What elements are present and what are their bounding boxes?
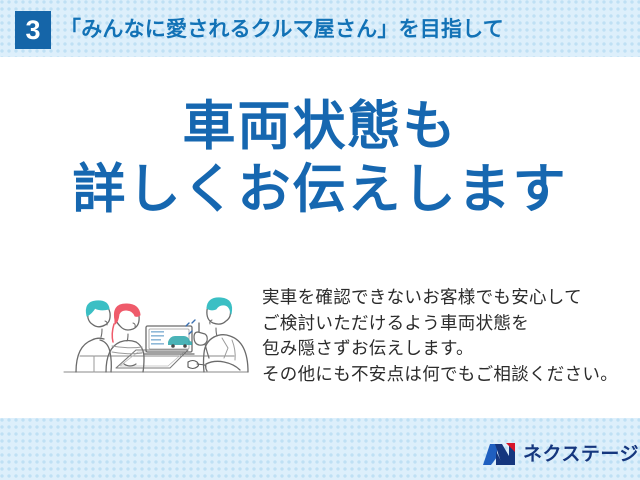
- header-title: 「みんなに愛されるクルマ屋さん」を目指して: [60, 13, 504, 47]
- body-copy-line-2: ご検討いただけるよう車両状態を: [262, 311, 622, 337]
- headline: 車両状態も 詳しくお伝えします: [0, 96, 640, 221]
- body-copy-line-4: その他にも不安点は何でもご相談ください。: [262, 362, 622, 388]
- body-copy-line-3: 包み隠さずお伝えします。: [262, 336, 622, 362]
- brand-name: ネクステージ: [523, 442, 639, 467]
- body-copy: 実車を確認できないお客様でも安心して ご検討いただけるよう車両状態を 包み隠さず…: [262, 285, 622, 387]
- headline-line-1: 車両状態も: [0, 96, 640, 159]
- promo-banner: 3 「みんなに愛されるクルマ屋さん」を目指して 車両状態も 詳しくお伝えします: [0, 0, 640, 480]
- body-copy-line-1: 実車を確認できないお客様でも安心して: [262, 285, 622, 311]
- nextage-n-logo-icon: [482, 442, 516, 467]
- consultation-illustration: [58, 276, 254, 388]
- section-number-badge: 3: [15, 11, 51, 49]
- brand-logo: ネクステージ: [482, 440, 639, 468]
- headline-line-2: 詳しくお伝えします: [0, 159, 640, 222]
